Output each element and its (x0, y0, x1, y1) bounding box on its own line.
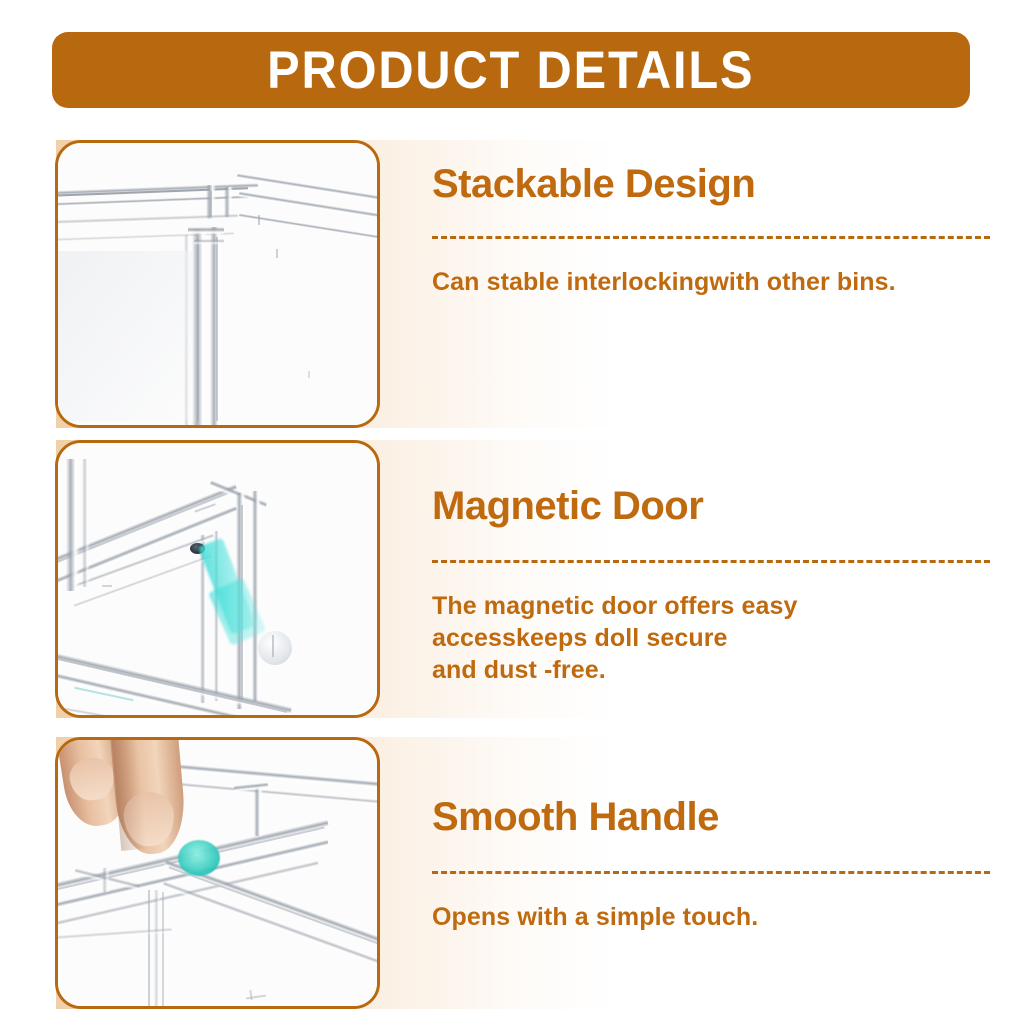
feature-text-3: Smooth Handle Opens with a simple touch. (432, 737, 1002, 1009)
feature-text-2: Magnetic Door The magnetic door offers e… (432, 440, 1002, 718)
page-title: PRODUCT DETAILS (267, 44, 754, 97)
feature-text-1: Stackable Design Can stable interlocking… (432, 140, 1002, 428)
feature-divider-3 (432, 871, 990, 874)
feature-row-smooth-handle: Smooth Handle Opens with a simple touch. (0, 737, 1024, 1009)
touch-point-highlight (178, 840, 220, 876)
feature-row-stackable-design: Stackable Design Can stable interlocking… (0, 140, 1024, 428)
clear-stackable-bin-photo (58, 143, 377, 425)
feature-image-panel-3 (55, 737, 380, 1009)
clear-bin-magnetic-door-photo (58, 443, 377, 715)
finger-pressing-handle-photo (58, 740, 377, 1006)
feature-divider-1 (432, 236, 990, 239)
header-banner: PRODUCT DETAILS (52, 32, 970, 108)
product-details-infographic: PRODUCT DETAILS (0, 0, 1024, 1024)
feature-title-2: Magnetic Door (432, 486, 703, 526)
feature-title-3: Smooth Handle (432, 797, 719, 837)
feature-image-panel-2 (55, 440, 380, 718)
feature-description-2: The magnetic door offers easy accesskeep… (432, 590, 798, 686)
feature-divider-2 (432, 560, 990, 563)
feature-row-magnetic-door: Magnetic Door The magnetic door offers e… (0, 440, 1024, 718)
feature-description-1: Can stable interlockingwith other bins. (432, 266, 896, 298)
feature-image-panel-1 (55, 140, 380, 428)
feature-description-3: Opens with a simple touch. (432, 901, 758, 933)
feature-title-1: Stackable Design (432, 164, 755, 204)
